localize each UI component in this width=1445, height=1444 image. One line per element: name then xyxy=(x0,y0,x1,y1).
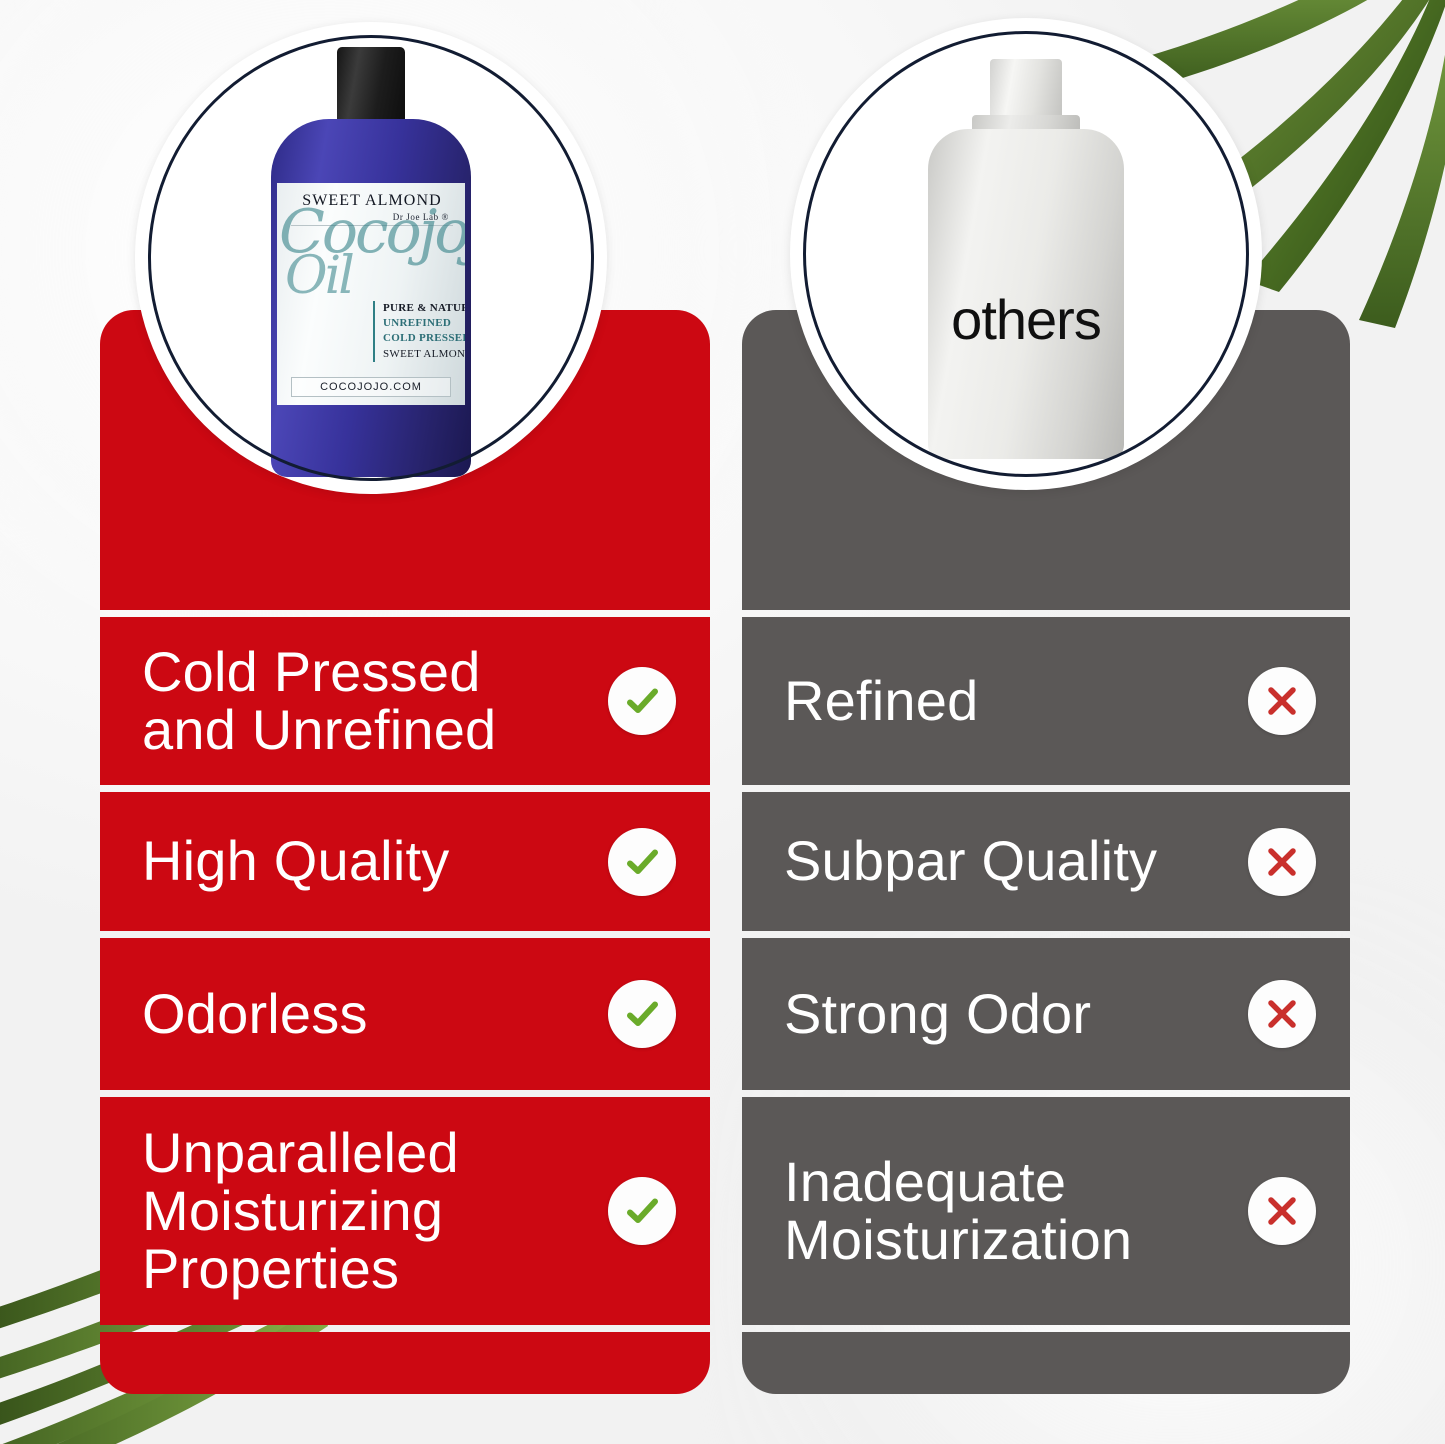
cross-icon xyxy=(1248,980,1316,1048)
bottle-cap xyxy=(337,47,405,131)
others-bottle: others xyxy=(928,59,1124,459)
comparison-infographic: Cold Pressed and Unrefined High Quality … xyxy=(0,0,1445,1444)
table-row: Inadequate Moisturization xyxy=(742,1097,1350,1325)
label-title: SWEET ALMOND xyxy=(289,192,455,210)
label-bullet: COLD PRESSED xyxy=(383,331,465,346)
table-row: Unparalleled Moisturizing Properties xyxy=(100,1097,710,1325)
row-label: High Quality xyxy=(142,832,449,890)
row-label: Refined xyxy=(784,672,978,730)
bottle-body xyxy=(271,119,471,477)
right-panel-footer xyxy=(742,1332,1350,1394)
table-row: Strong Odor xyxy=(742,938,1350,1090)
product-circle-inner: others xyxy=(790,18,1262,490)
table-row: Refined xyxy=(742,617,1350,785)
bottle-shoulder xyxy=(972,115,1080,133)
row-label: Subpar Quality xyxy=(784,832,1157,890)
table-row: Subpar Quality xyxy=(742,792,1350,931)
product-circle-cocojojo: SWEET ALMOND Dr Joe Lab ® Cocojojo Oil P… xyxy=(135,22,607,494)
cross-icon xyxy=(1248,667,1316,735)
bottle-label: SWEET ALMOND Dr Joe Lab ® Cocojojo Oil P… xyxy=(277,183,465,405)
bottle-neck xyxy=(990,59,1062,121)
cross-icon xyxy=(1248,1177,1316,1245)
check-icon xyxy=(608,828,676,896)
bottle-body xyxy=(928,129,1124,459)
left-panel-footer xyxy=(100,1332,710,1394)
label-divider xyxy=(291,225,453,226)
product-circle-inner: SWEET ALMOND Dr Joe Lab ® Cocojojo Oil P… xyxy=(135,22,607,494)
row-label: Odorless xyxy=(142,985,368,1043)
row-label: Cold Pressed and Unrefined xyxy=(142,643,496,759)
check-icon xyxy=(608,1177,676,1245)
row-label: Inadequate Moisturization xyxy=(784,1153,1132,1269)
row-label: Unparalleled Moisturizing Properties xyxy=(142,1124,459,1299)
label-bullet: PURE & NATURAL xyxy=(383,301,465,316)
table-row: Odorless xyxy=(100,938,710,1090)
label-script-line2: Oil xyxy=(285,256,429,297)
label-bullet: UNREFINED xyxy=(383,316,465,331)
cocojojo-bottle: SWEET ALMOND Dr Joe Lab ® Cocojojo Oil P… xyxy=(271,47,471,477)
label-bullet-list: PURE & NATURAL UNREFINED COLD PRESSED SW… xyxy=(373,301,465,362)
label-bullet: SWEET ALMOND OIL xyxy=(383,347,465,362)
product-circle-others: others xyxy=(790,18,1262,490)
label-script-logo: Cocojojo Oil xyxy=(279,209,429,296)
table-row: High Quality xyxy=(100,792,710,931)
bottle-label-text: others xyxy=(928,287,1124,352)
label-brand: Dr Joe Lab ® xyxy=(289,212,455,222)
label-website: COCOJOJO.COM xyxy=(291,377,451,397)
check-icon xyxy=(608,667,676,735)
check-icon xyxy=(608,980,676,1048)
label-script-line1: Cocojojo xyxy=(279,197,465,267)
table-row: Cold Pressed and Unrefined xyxy=(100,617,710,785)
cross-icon xyxy=(1248,828,1316,896)
row-label: Strong Odor xyxy=(784,985,1091,1043)
